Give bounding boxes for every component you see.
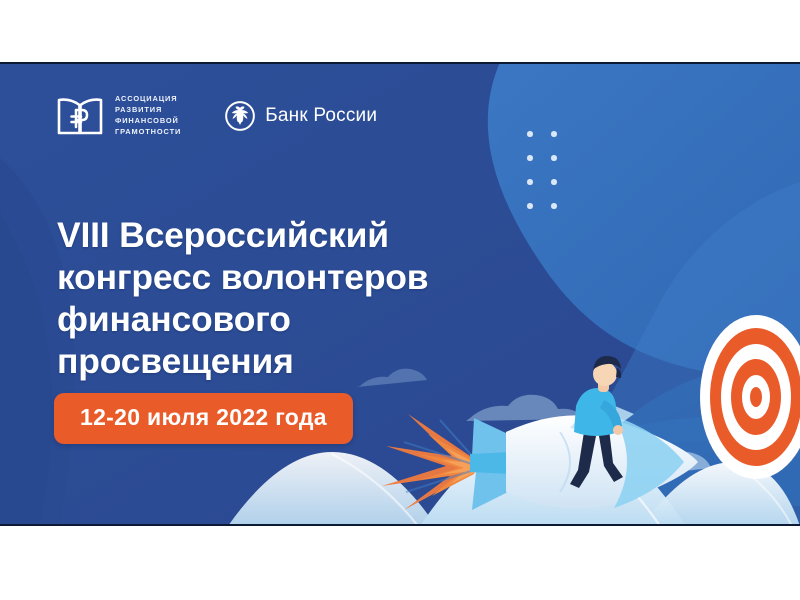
association-line-2: РАЗВИТИЯ — [115, 105, 181, 116]
logo-row: АССОЦИАЦИЯ РАЗВИТИЯ ФИНАНСОВОЙ ГРАМОТНОС… — [56, 92, 377, 140]
banner-top-rule — [0, 62, 800, 64]
event-date-badge: 12-20 июля 2022 года — [54, 393, 353, 444]
dot-grid-top — [527, 131, 575, 227]
bank-of-russia-label: Банк России — [265, 105, 377, 127]
page-canvas: АССОЦИАЦИЯ РАЗВИТИЯ ФИНАНСОВОЙ ГРАМОТНОС… — [0, 0, 800, 600]
banner-bottom-rule — [0, 524, 800, 526]
dot — [527, 131, 533, 137]
event-headline: VIII Всероссийский конгресс волонтеров ф… — [57, 214, 527, 382]
association-logo[interactable]: АССОЦИАЦИЯ РАЗВИТИЯ ФИНАНСОВОЙ ГРАМОТНОС… — [56, 92, 181, 140]
open-book-ruble-icon — [56, 92, 104, 140]
bank-of-russia-logo[interactable]: Банк России — [225, 101, 377, 131]
dot — [551, 131, 557, 137]
dot — [551, 155, 557, 161]
dot — [527, 179, 533, 185]
association-line-3: ФИНАНСОВОЙ — [115, 116, 181, 127]
dot — [527, 203, 533, 209]
rocket-nozzle — [470, 452, 512, 474]
dot — [527, 155, 533, 161]
double-headed-eagle-icon — [225, 101, 255, 131]
association-label: АССОЦИАЦИЯ РАЗВИТИЯ ФИНАНСОВОЙ ГРАМОТНОС… — [115, 94, 181, 137]
dot — [551, 179, 557, 185]
association-line-1: АССОЦИАЦИЯ — [115, 94, 181, 105]
dot — [551, 203, 557, 209]
association-line-4: ГРАМОТНОСТИ — [115, 127, 181, 138]
event-banner: АССОЦИАЦИЯ РАЗВИТИЯ ФИНАНСОВОЙ ГРАМОТНОС… — [0, 62, 800, 526]
